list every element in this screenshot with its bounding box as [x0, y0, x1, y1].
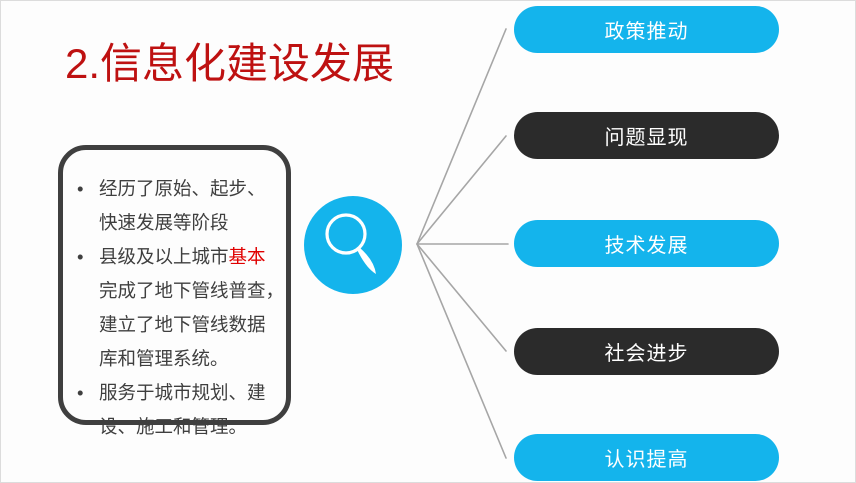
slide-canvas: 2.信息化建设发展 • 经历了原始、起步、 快速发展等阶段 • 县级及以上城市基…: [0, 0, 856, 483]
connector-line: [417, 244, 506, 351]
list-item: • 县级及以上城市基本 完成了地下管线普查， 建立了地下管线数据 库和管理系统。: [69, 240, 291, 376]
pill-button-problems[interactable]: 问题显现: [514, 112, 779, 159]
bullet-list: • 经历了原始、起步、 快速发展等阶段 • 县级及以上城市基本 完成了地下管线普…: [69, 172, 291, 444]
pill-button-awareness[interactable]: 认识提高: [514, 434, 779, 481]
pill-label: 社会进步: [605, 337, 689, 366]
list-item: • 经历了原始、起步、 快速发展等阶段: [69, 172, 291, 240]
content-box: • 经历了原始、起步、 快速发展等阶段 • 县级及以上城市基本 完成了地下管线普…: [58, 145, 291, 425]
list-item-line: 设、施工和管理。: [99, 416, 247, 437]
bullet-marker: •: [77, 376, 83, 410]
search-icon-badge[interactable]: [304, 196, 402, 294]
connector-line: [417, 244, 506, 458]
highlighted-text: 基本: [229, 246, 266, 267]
list-item-line: 建立了地下管线数据: [99, 314, 266, 335]
list-item-line: 服务于城市规划、建: [99, 382, 266, 403]
list-item: • 服务于城市规划、建 设、施工和管理。: [69, 376, 291, 444]
pill-label: 政策推动: [605, 15, 689, 44]
pill-button-technology[interactable]: 技术发展: [514, 220, 779, 267]
search-icon: [304, 196, 402, 294]
pill-label: 技术发展: [605, 229, 689, 258]
pill-button-policy[interactable]: 政策推动: [514, 6, 779, 53]
page-title: 2.信息化建设发展: [65, 38, 394, 90]
list-item-line: 县级及以上城市: [99, 246, 229, 267]
list-item-line: 完成了地下管线普查，: [99, 280, 284, 301]
connector-line: [417, 136, 506, 244]
list-item-line: 库和管理系统。: [99, 348, 229, 369]
bullet-marker: •: [77, 240, 83, 274]
connector-line: [417, 29, 506, 244]
bullet-marker: •: [77, 172, 83, 206]
list-item-line: 快速发展等阶段: [99, 212, 229, 233]
pill-label: 认识提高: [605, 443, 689, 472]
pill-button-society[interactable]: 社会进步: [514, 328, 779, 375]
pill-label: 问题显现: [605, 121, 689, 150]
list-item-line: 经历了原始、起步、: [99, 178, 266, 199]
